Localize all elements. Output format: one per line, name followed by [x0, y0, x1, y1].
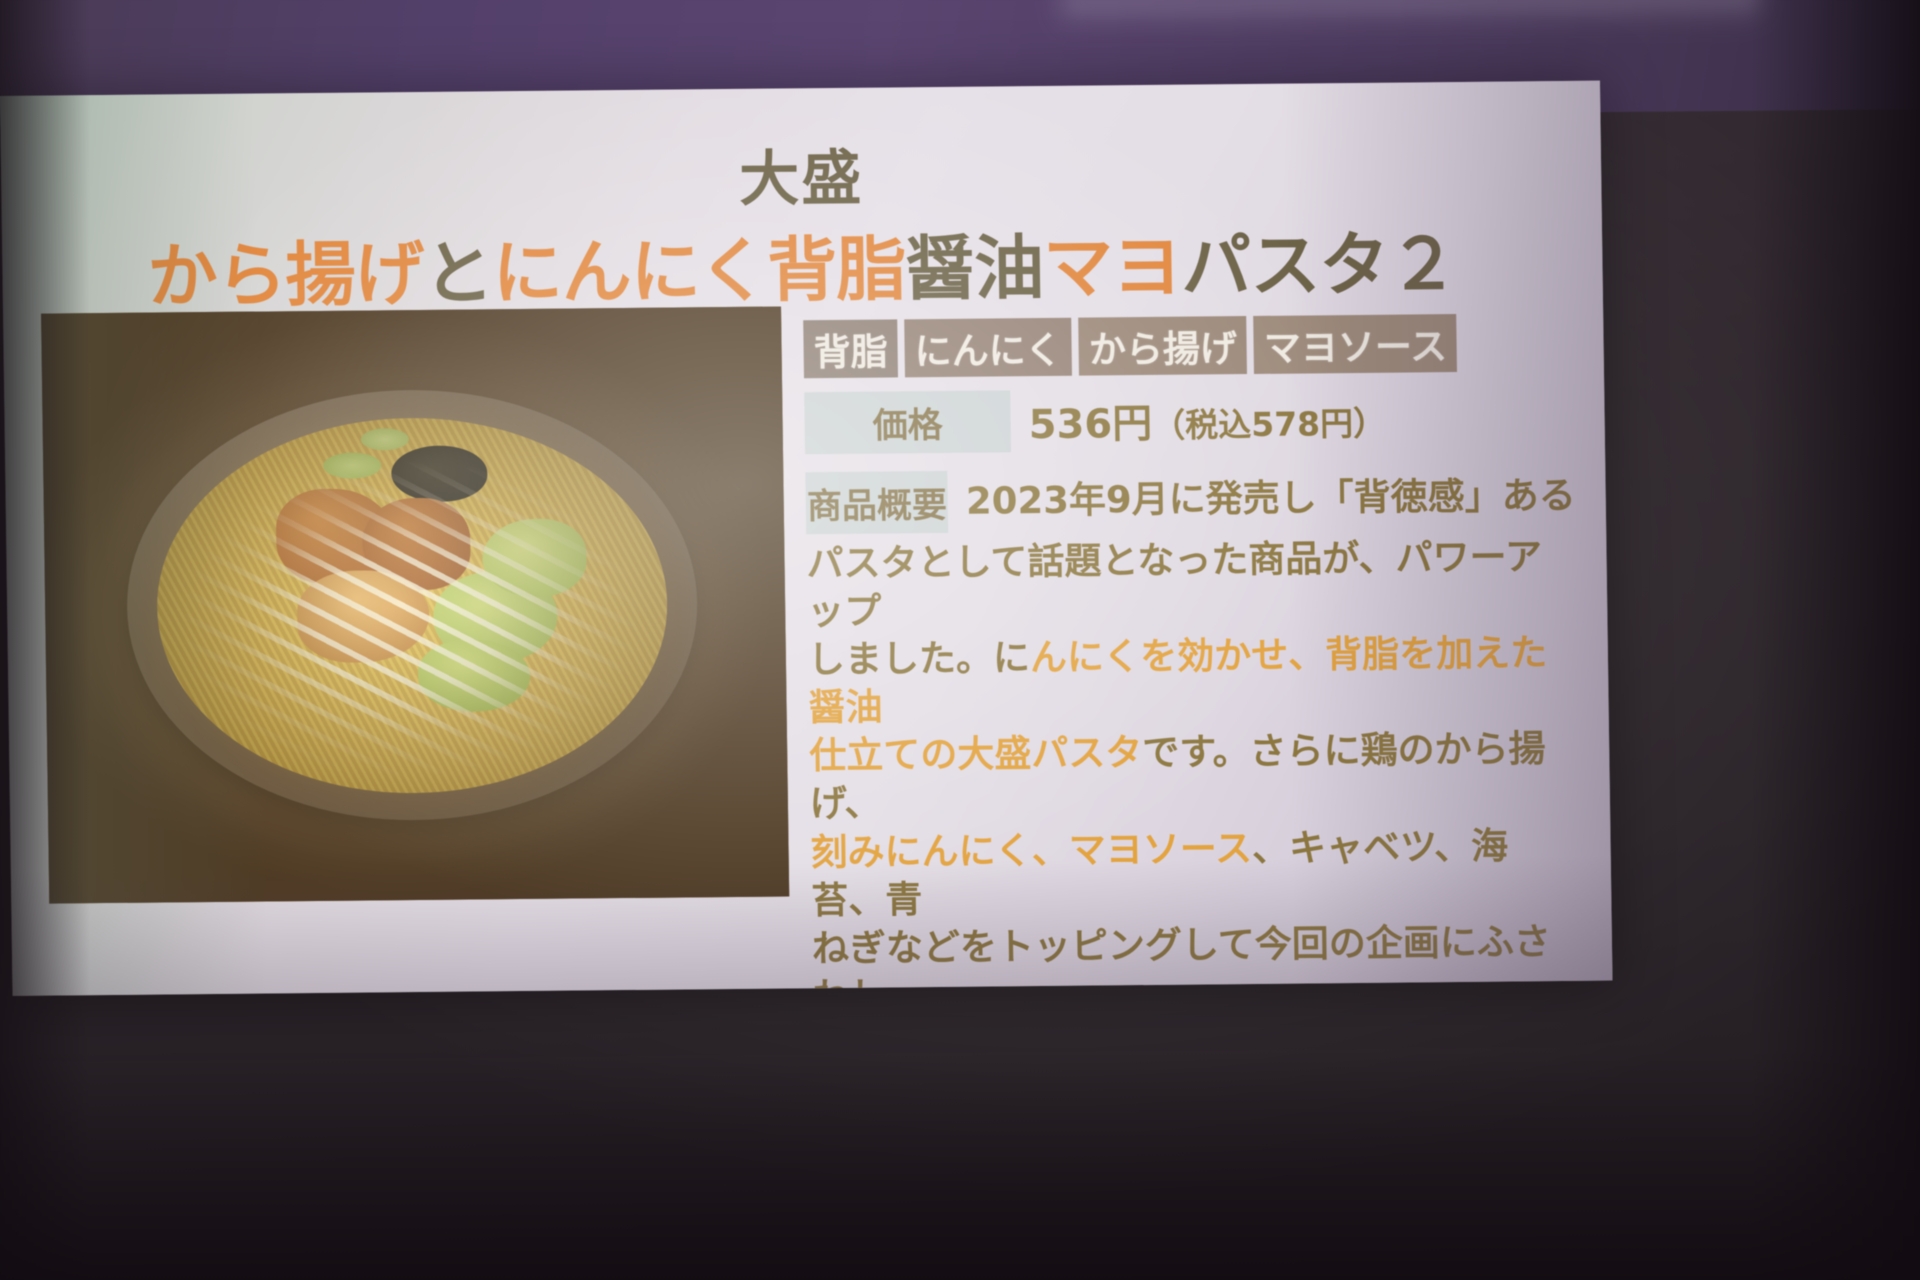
bottom-dark-edge: [0, 1050, 1920, 1280]
overview-line-1: パスタとして話題となった商品が、パワーアップ: [806, 533, 1577, 637]
badge-seabura: 背脂: [803, 319, 898, 378]
badge-karaage: から揚げ: [1078, 316, 1247, 376]
price-row: 価格 536円（税込578円）: [804, 385, 1575, 454]
badge-ninniku: にんにく: [904, 318, 1072, 378]
overview-line-2: しました。にんにくを効かせ、背脂を加えた醤油: [808, 629, 1579, 733]
price-amount: 536円: [1028, 401, 1152, 448]
title-segment-ninniku: にんにく: [492, 230, 768, 315]
overview-label: 商品概要: [805, 471, 948, 534]
feature-badge-row: 背脂 にんにく から揚げ マヨソース: [803, 313, 1574, 378]
overview-line-3: 仕立ての大盛パスタです。さらに鶏のから揚げ、: [809, 725, 1580, 829]
food-photo-shading: [41, 307, 789, 904]
product-info-column: 背脂 にんにく から揚げ マヨソース 価格 536円（税込578円） 商品概要 …: [803, 313, 1583, 996]
title-segment-karaage: から揚げ: [147, 233, 424, 318]
overview-line-3-highlight: 仕立ての大盛パスタ: [809, 731, 1143, 777]
wall-highlight: [1060, 0, 1760, 31]
slide-title-main: から揚げとにんにく背脂醤油マヨパスタ２: [2, 207, 1603, 323]
overview-body: パスタとして話題となった商品が、パワーアップ しました。にんにくを効かせ、背脂を…: [806, 533, 1583, 996]
projected-slide-photograph: 大盛 から揚げとにんにく背脂醤油マヨパスタ２: [0, 0, 1920, 1280]
overview-row: 商品概要 2023年9月に発売し「背徳感」ある: [805, 465, 1576, 534]
overview-line-2-plain: しました。に: [808, 636, 1031, 681]
title-segment-pasta2: パスタ２: [1181, 223, 1458, 308]
title-segment-mayo: マヨ: [1043, 226, 1182, 309]
price-label: 価格: [804, 390, 1011, 454]
overview-first-line: 2023年9月に発売し「背徳感」ある: [966, 465, 1577, 533]
presentation-slide: 大盛 から揚げとにんにく背脂醤油マヨパスタ２: [0, 81, 1612, 996]
price-tax-included: （税込578円）: [1152, 404, 1386, 445]
product-food-photo: [41, 307, 789, 904]
title-segment-seabura: 背脂: [767, 228, 906, 311]
overview-line-4-highlight: 刻みにんにく、マヨソース: [810, 827, 1252, 874]
price-value: 536円（税込578円）: [1028, 389, 1386, 450]
overview-line-4: 刻みにんにく、マヨソース、キャベツ、海苔、青: [810, 821, 1581, 925]
title-segment-to: と: [423, 232, 493, 315]
title-segment-shoyu: 醤油: [905, 227, 1044, 310]
projection-screen: 大盛 から揚げとにんにく背脂醤油マヨパスタ２: [0, 81, 1612, 996]
badge-mayo-sauce: マヨソース: [1253, 314, 1457, 374]
